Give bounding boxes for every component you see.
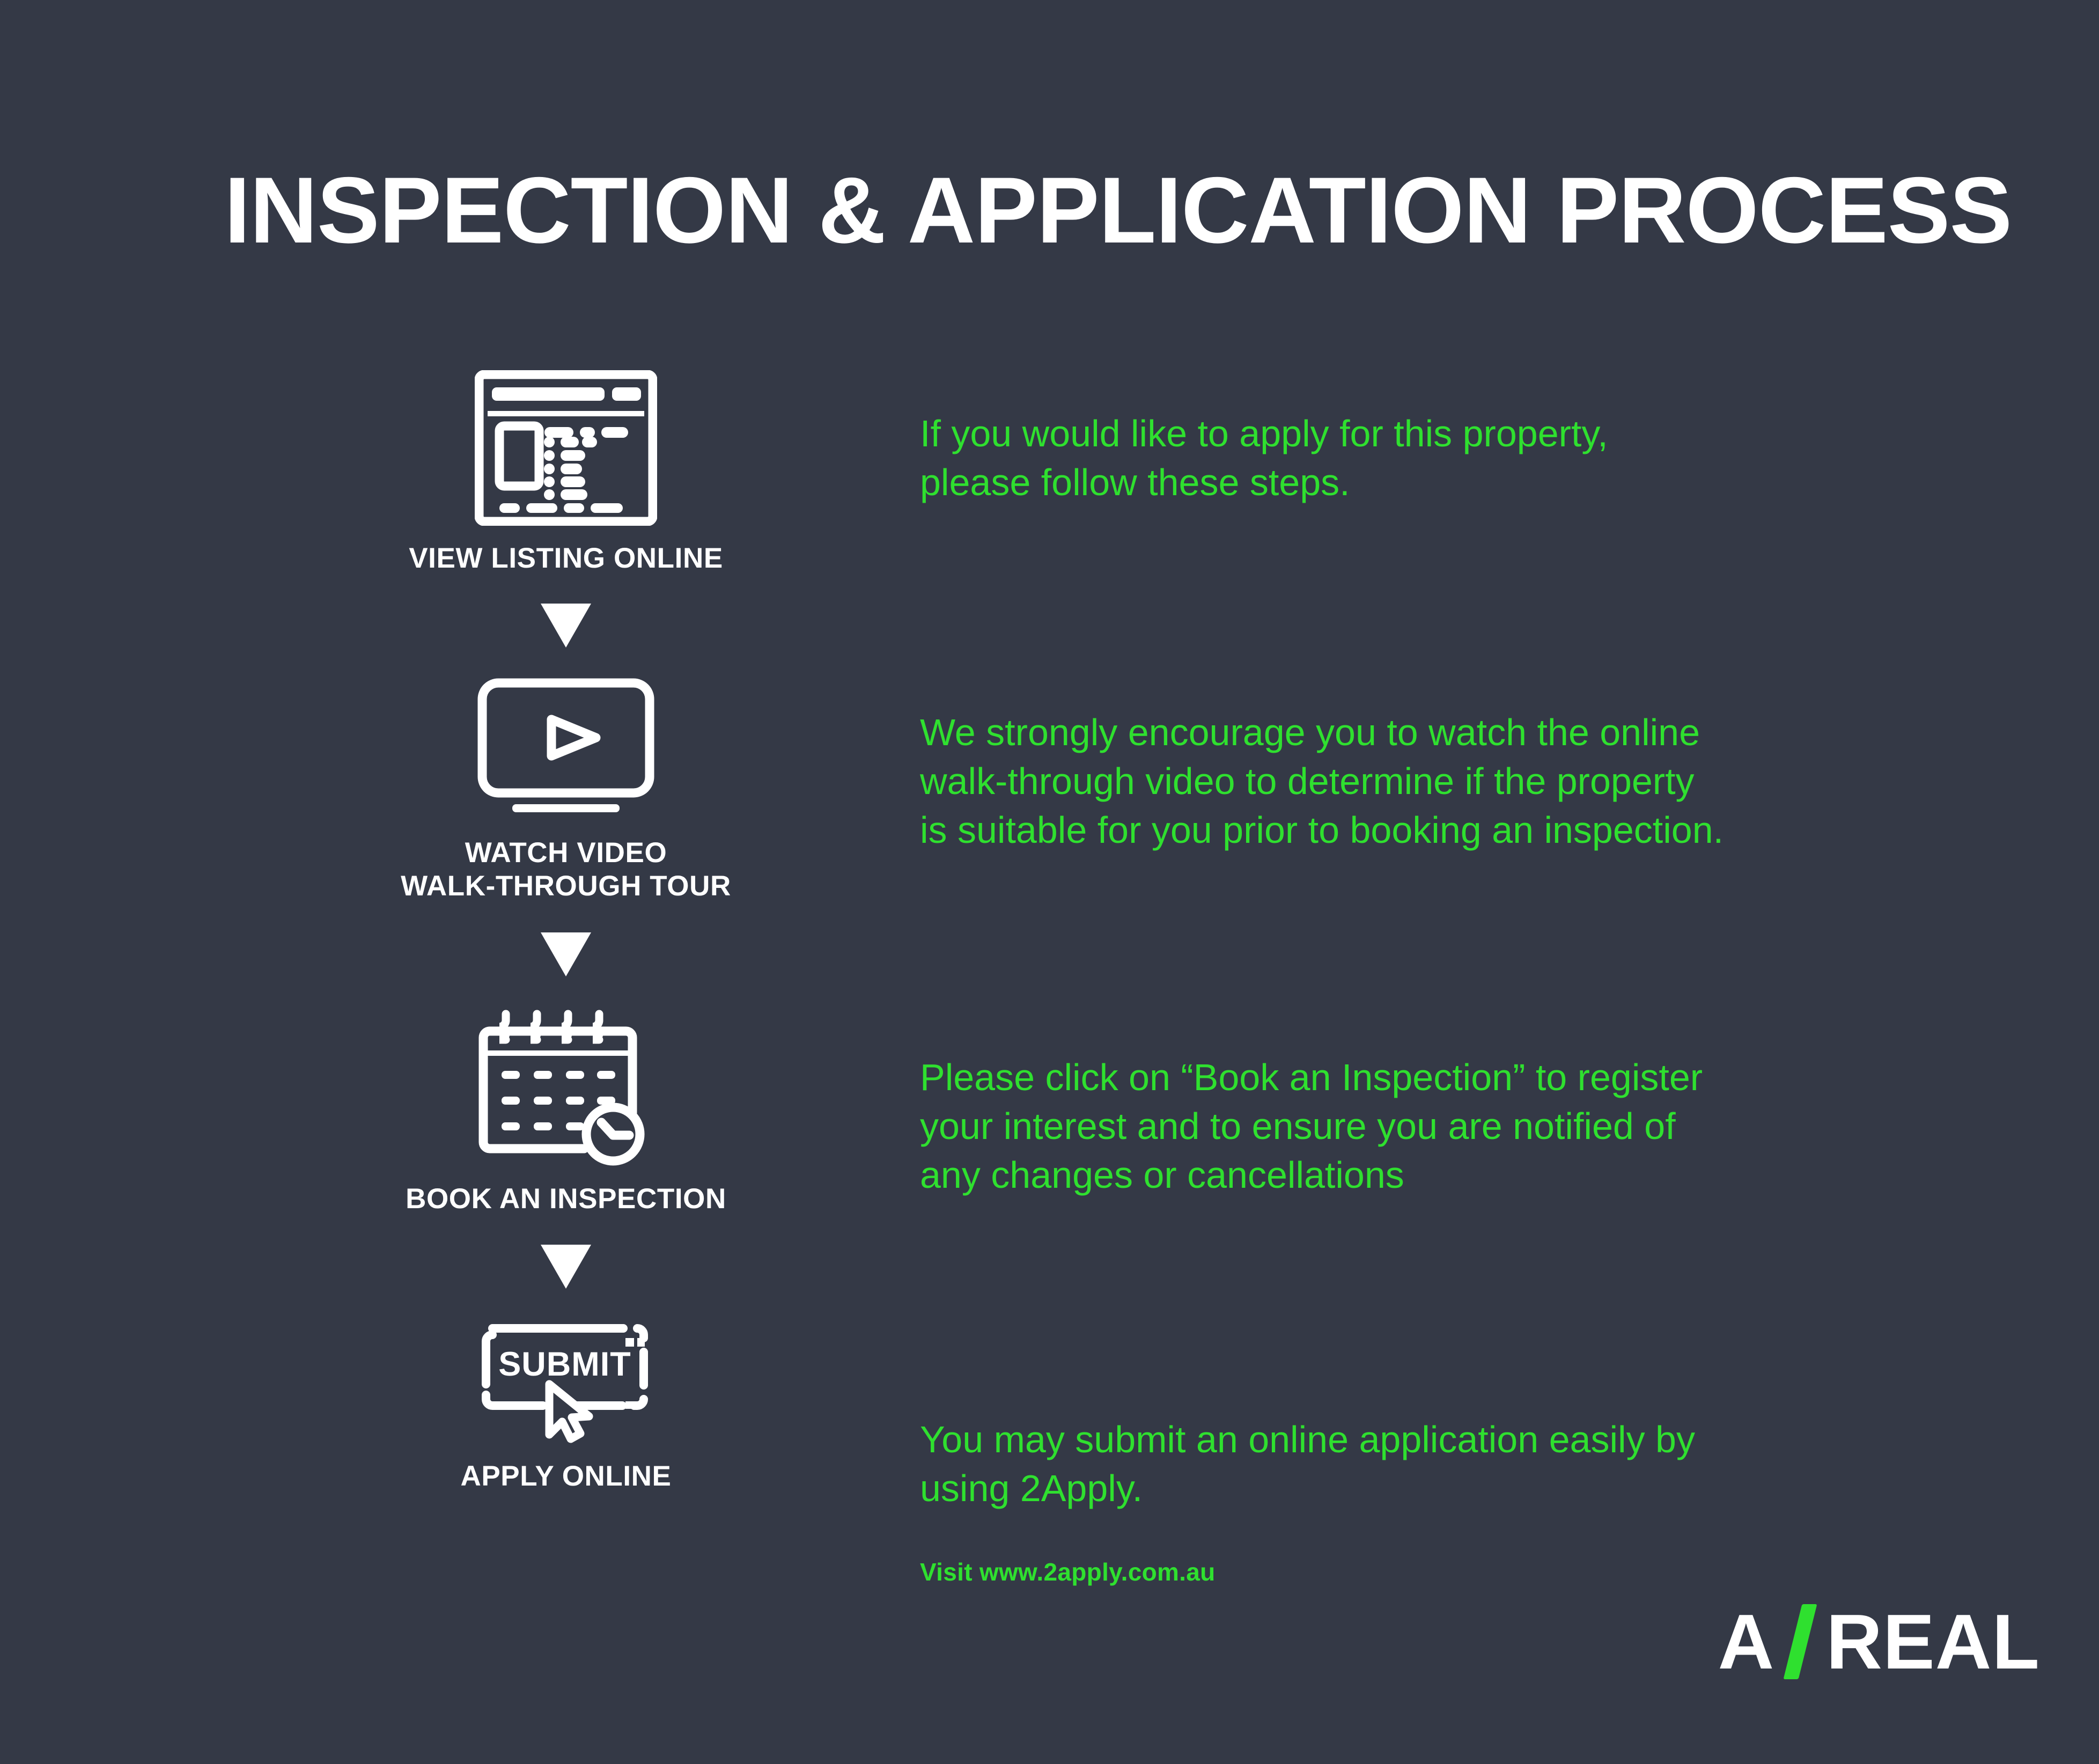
step-flow-column: VIEW LISTING ONLINE WATCH VIDEO WALK-THR… — [343, 370, 789, 1494]
step-label: BOOK AN INSPECTION — [343, 1182, 789, 1216]
logo-slash-icon — [1784, 1604, 1817, 1679]
logo-letter-a: A — [1718, 1603, 1775, 1681]
down-triangle-icon — [343, 1245, 789, 1289]
down-triangle-icon — [343, 932, 789, 976]
step-watch-video[interactable]: WATCH VIDEO WALK-THROUGH TOUR — [343, 675, 789, 903]
step-book-inspection[interactable]: BOOK AN INSPECTION — [343, 1005, 789, 1216]
down-triangle-icon — [343, 604, 789, 648]
step-label: APPLY ONLINE — [343, 1460, 789, 1494]
note-watch-video: We strongly encourage you to watch the o… — [920, 708, 1724, 855]
step-label: WATCH VIDEO WALK-THROUGH TOUR — [343, 836, 789, 903]
step-label: VIEW LISTING ONLINE — [343, 542, 789, 576]
note-apply-steps: If you would like to apply for this prop… — [920, 409, 1608, 507]
page-title: INSPECTION & APPLICATION PROCESS — [224, 164, 2012, 258]
visit-website-link[interactable]: Visit www.2apply.com.au — [920, 1557, 1216, 1586]
note-apply-2apply: You may submit an online application eas… — [920, 1415, 1695, 1513]
submit-button-cursor-icon: SUBMIT — [343, 1318, 789, 1444]
listing-window-icon — [343, 370, 789, 526]
areal-logo: A REAL — [1718, 1604, 2040, 1679]
step-apply-online[interactable]: SUBMIT APPLY ONLINE — [343, 1318, 789, 1494]
step-view-listing[interactable]: VIEW LISTING ONLINE — [343, 370, 789, 576]
infographic-page: INSPECTION & APPLICATION PROCESS — [0, 0, 2099, 1764]
note-book-inspection: Please click on “Book an Inspection” to … — [920, 1053, 1703, 1200]
logo-word-real: REAL — [1826, 1603, 2040, 1681]
video-play-monitor-icon — [343, 675, 789, 820]
calendar-clock-icon — [343, 1005, 789, 1166]
svg-text:SUBMIT: SUBMIT — [498, 1346, 631, 1383]
